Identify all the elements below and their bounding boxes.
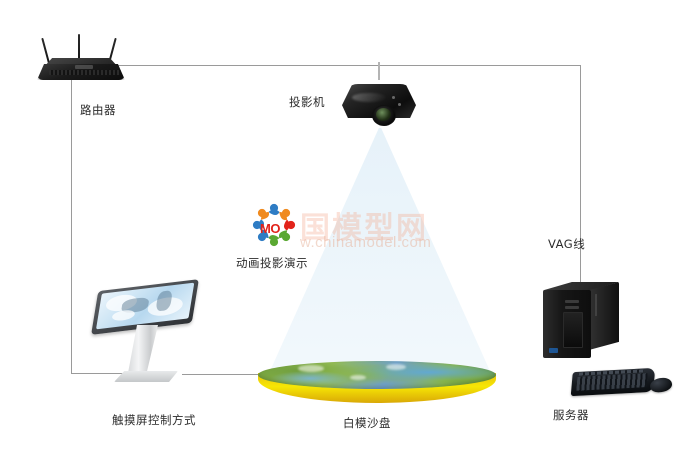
projector-ceiling-mount (378, 62, 380, 80)
projector-lens (376, 108, 391, 121)
sand-table-icon (258, 361, 496, 409)
label-touchscreen-control: 触摸屏控制方式 (112, 413, 196, 427)
wifi-router-icon (33, 32, 129, 84)
projector-sensor-dot-2 (398, 103, 401, 106)
server-drive-slot-2 (565, 306, 579, 309)
router-brand-logo (75, 65, 93, 69)
router-body (37, 64, 125, 80)
label-sand-table: 白模沙盘 (343, 416, 391, 430)
server-drive-bay (563, 312, 583, 348)
projector-sensor-dot-1 (392, 96, 395, 99)
wire-right-vertical-vag (580, 65, 581, 285)
server-status-led (549, 348, 558, 353)
projection-light-beam (266, 128, 494, 380)
server-tower-icon (543, 282, 621, 360)
mo-logo-text: MO (260, 221, 280, 236)
diagram-canvas: 路由器 投影机 国模型网 w.chinamodel.com (0, 0, 680, 467)
projector-icon (342, 78, 416, 130)
projector-highlight (352, 93, 386, 102)
label-animation-demo: 动画投影演示 (236, 256, 308, 270)
server-side-panel (589, 282, 619, 350)
router-vents (49, 70, 121, 75)
sand-table-terrain (258, 361, 496, 389)
mo-logo-icon: MO (243, 201, 305, 253)
kiosk-display (96, 283, 194, 330)
watermark-url: w.chinamodel.com (300, 234, 550, 251)
server-accent-strip (595, 294, 597, 316)
label-router: 路由器 (80, 103, 116, 117)
kiosk-stand-neck (128, 325, 158, 373)
touchscreen-kiosk-icon (92, 285, 202, 389)
wire-left-vertical (71, 65, 72, 374)
label-server: 服务器 (553, 408, 589, 422)
server-drive-slot-1 (565, 300, 579, 303)
wire-top-horizontal (110, 65, 580, 66)
keyboard-and-mouse-icon (572, 368, 672, 396)
server-front-panel (543, 290, 591, 358)
label-projector: 投影机 (289, 95, 325, 109)
label-vag-cable: VAG线 (548, 237, 585, 251)
kiosk-base (114, 371, 178, 382)
